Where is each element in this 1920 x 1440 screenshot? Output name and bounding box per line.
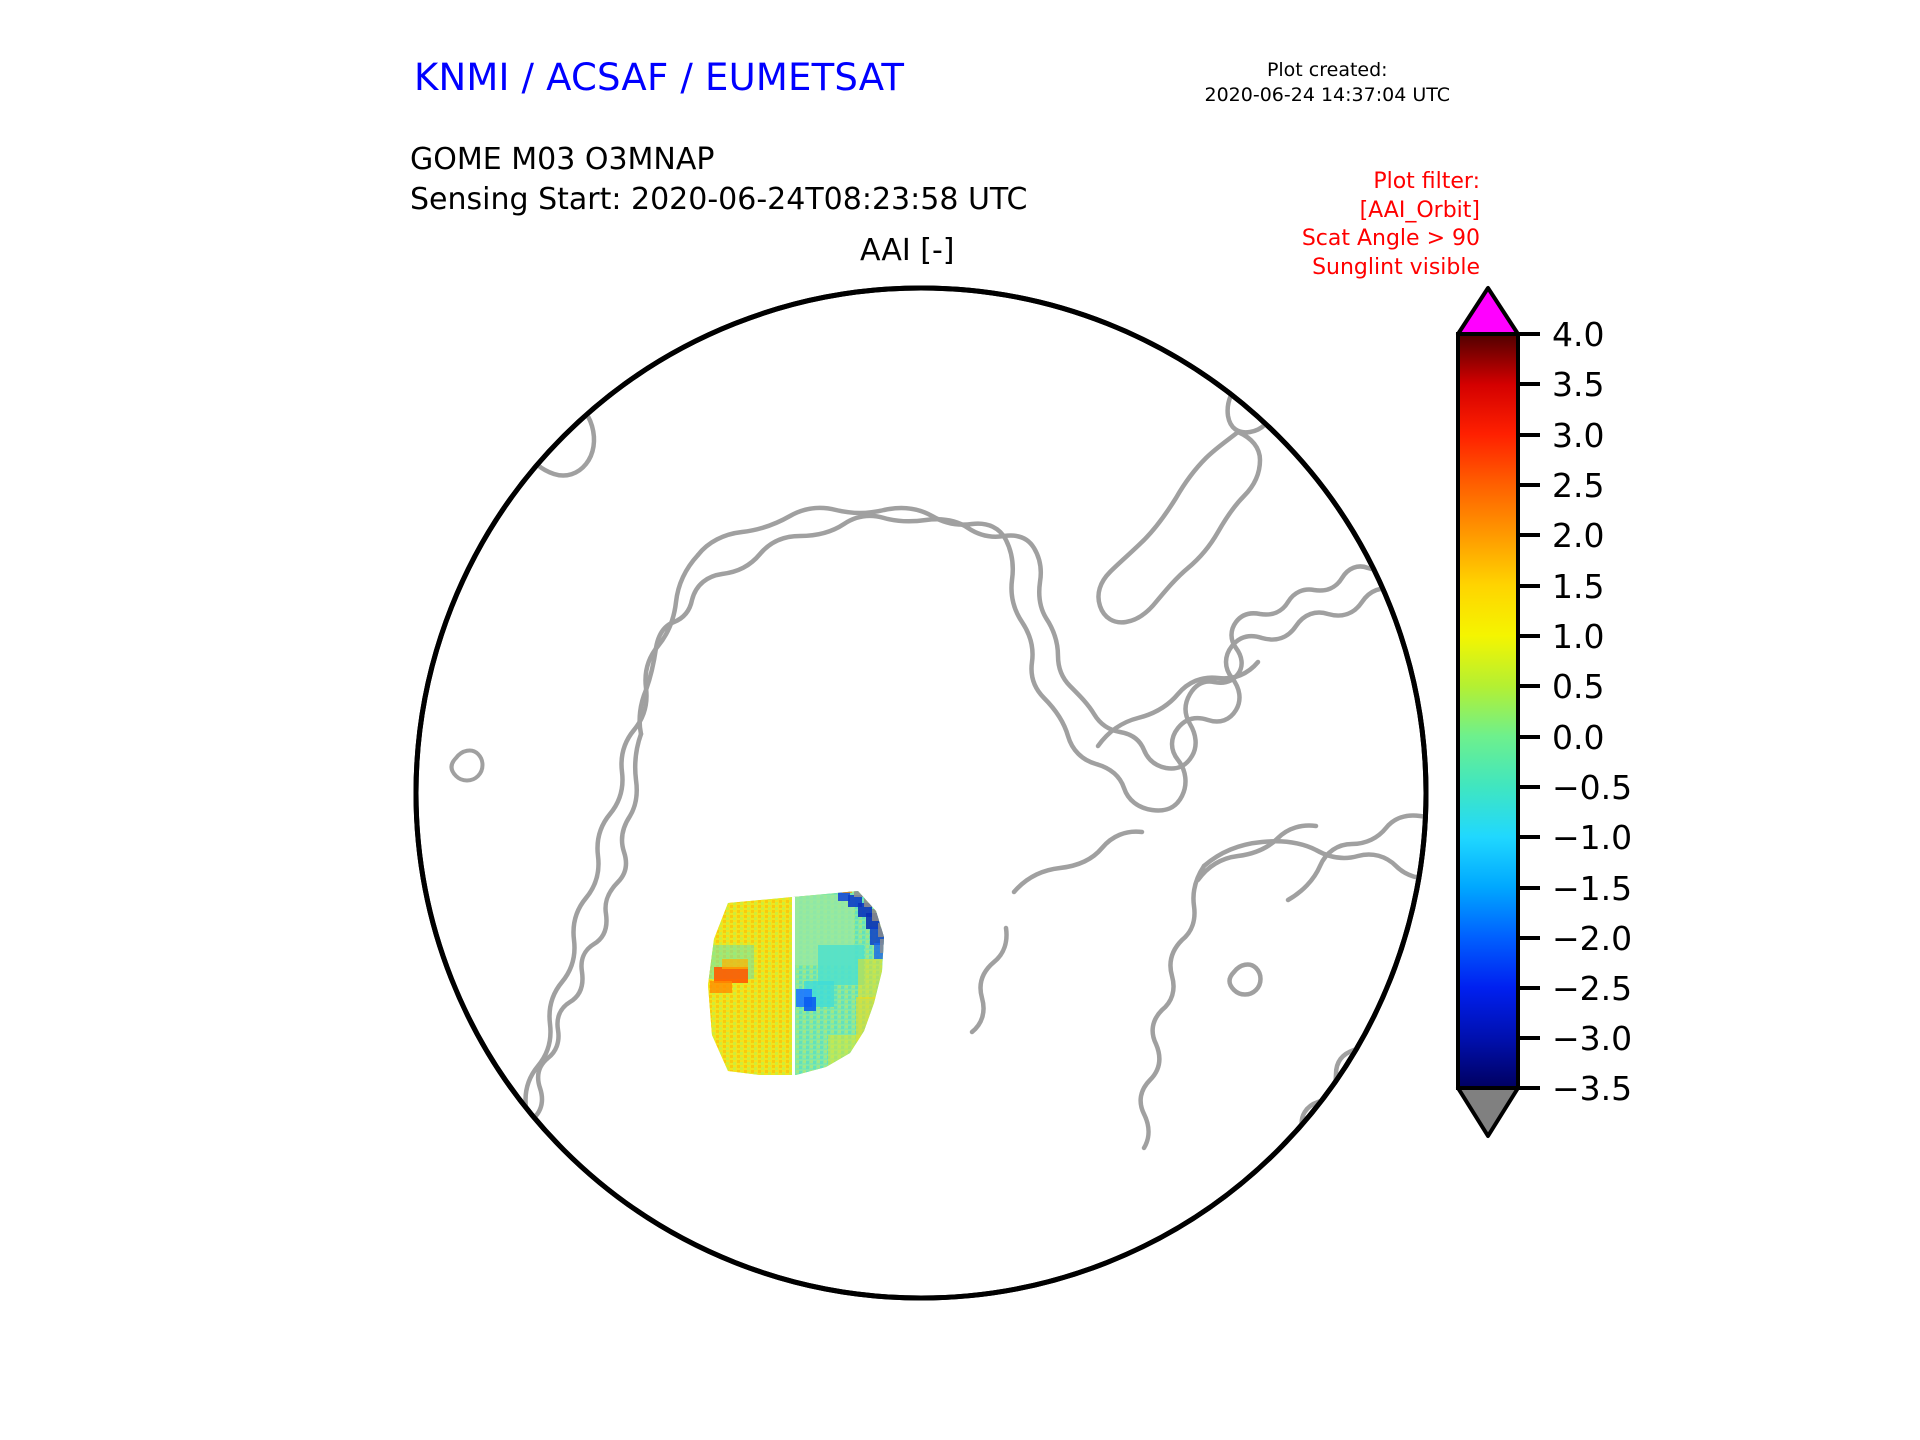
colorbar-tick-label: 3.5 [1552, 365, 1604, 404]
colorbar-tick-label: 2.0 [1552, 516, 1604, 555]
colorbar-tick-label: −1.5 [1552, 869, 1632, 908]
colorbar-tick-label: 2.5 [1552, 466, 1604, 505]
colorbar-tick-label: 1.5 [1552, 567, 1604, 606]
sensing-start-line: Sensing Start: 2020-06-24T08:23:58 UTC [410, 180, 1027, 220]
colorbar-tick-label: −0.5 [1552, 768, 1632, 807]
colorbar-tick-label: 0.5 [1552, 667, 1604, 706]
plot-created-value: 2020-06-24 14:37:04 UTC [1205, 83, 1451, 108]
colorbar-tick-labels: 4.0 3.5 3.0 2.5 2.0 1.5 1.0 0.5 0.0 −0.5… [1552, 315, 1632, 1108]
colorbar-tick-label: −3.5 [1552, 1069, 1632, 1108]
colorbar-over-arrow [1458, 288, 1518, 334]
organisations-title: KNMI / ACSAF / EUMETSAT [414, 56, 904, 99]
colorbar-tick-label: 4.0 [1552, 315, 1604, 354]
globe-disc [416, 288, 1426, 1298]
plot-filter-line-2: Scat Angle > 90 [1302, 225, 1480, 254]
colorbar-gradient [1458, 334, 1518, 1088]
colorbar: 4.0 3.5 3.0 2.5 2.0 1.5 1.0 0.5 0.0 −0.5… [1440, 280, 1800, 1320]
plot-filter-line-3: Sunglint visible [1302, 254, 1480, 283]
colorbar-tick-label: −1.0 [1552, 818, 1632, 857]
colorbar-tick-label: 1.0 [1552, 617, 1604, 656]
dataset-info-block: GOME M03 O3MNAP Sensing Start: 2020-06-2… [410, 140, 1027, 220]
australia-south-coast [408, 352, 512, 386]
quantity-title: AAI [-] [860, 233, 955, 268]
plot-created-label: Plot created: [1205, 58, 1451, 83]
colorbar-tick-label: −3.0 [1552, 1019, 1632, 1058]
plot-filter-block: Plot filter: [AAI_Orbit] Scat Angle > 90… [1302, 168, 1480, 282]
instrument-line: GOME M03 O3MNAP [410, 140, 1027, 180]
colorbar-ticks [1518, 334, 1540, 1088]
plot-filter-line-1: [AAI_Orbit] [1302, 197, 1480, 226]
colorbar-under-arrow [1458, 1088, 1518, 1136]
plot-created-block: Plot created: 2020-06-24 14:37:04 UTC [1205, 58, 1451, 107]
colorbar-tick-label: 0.0 [1552, 718, 1604, 757]
colorbar-tick-label: −2.5 [1552, 969, 1632, 1008]
colorbar-tick-label: 3.0 [1552, 416, 1604, 455]
colorbar-tick-label: −2.0 [1552, 919, 1632, 958]
polar-map [408, 280, 1434, 1306]
plot-filter-title: Plot filter: [1302, 168, 1480, 197]
